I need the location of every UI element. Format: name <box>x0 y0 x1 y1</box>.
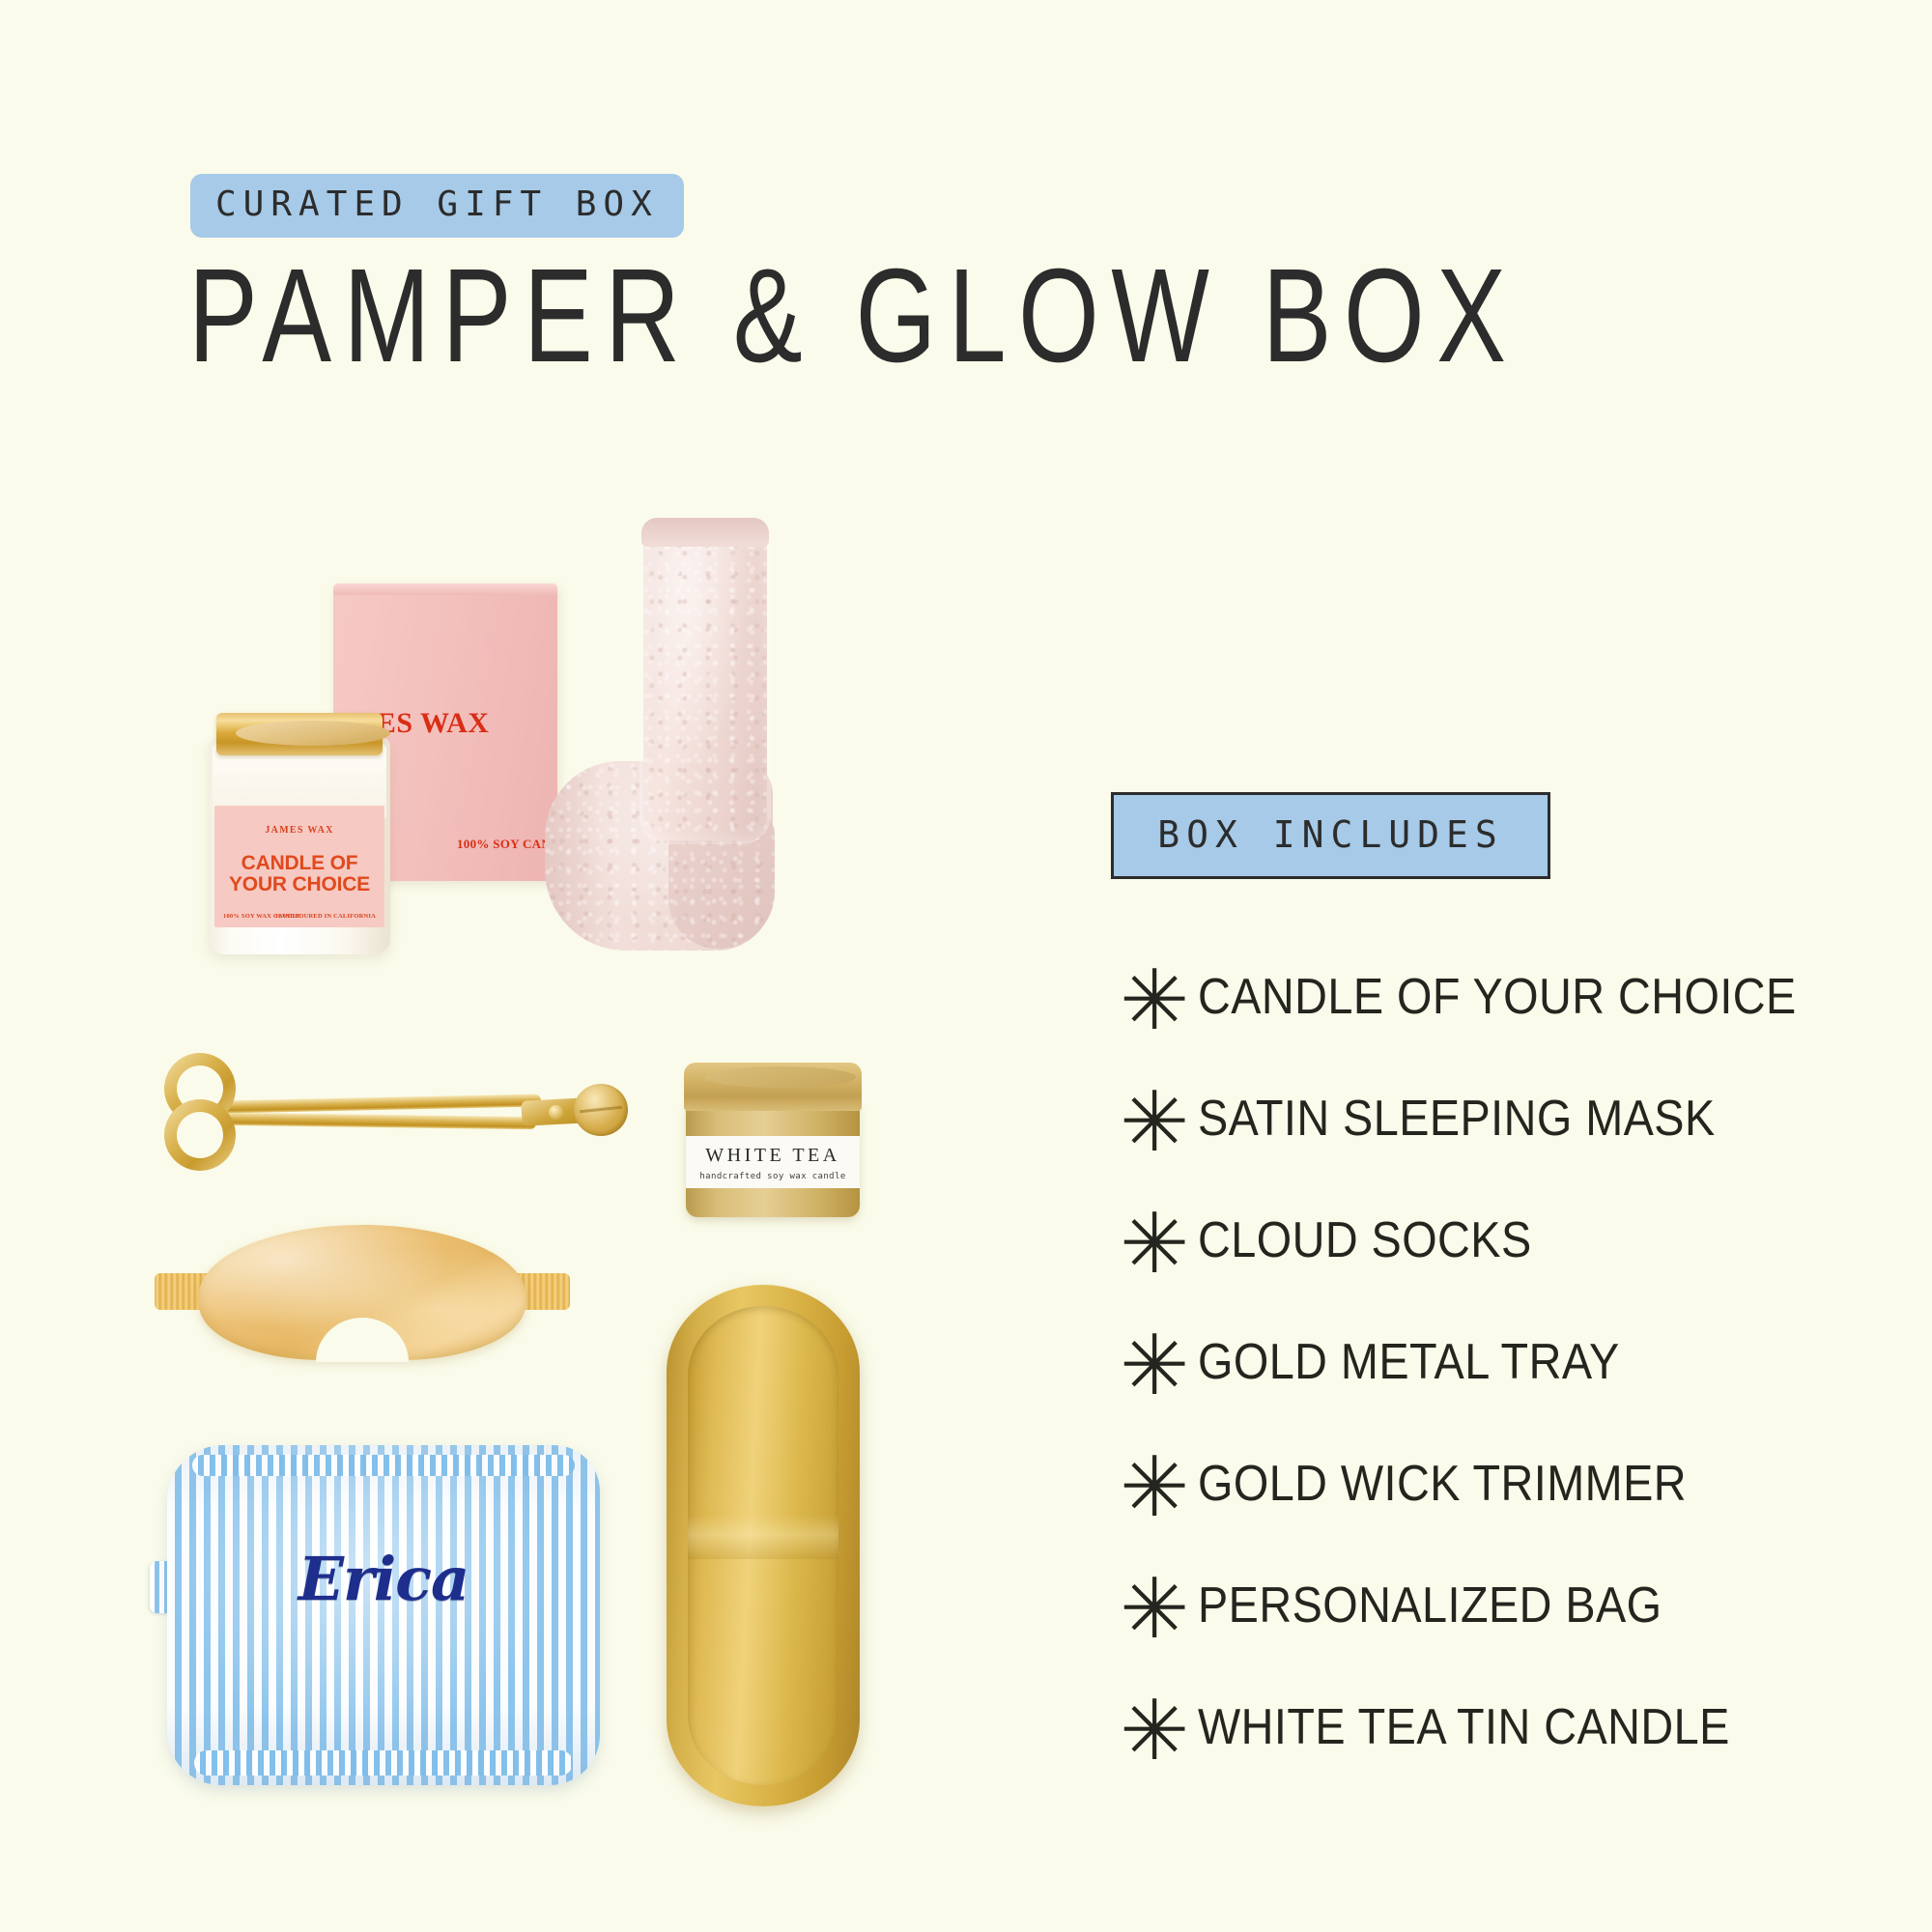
product-candle-jar-image: JAMES WAX CANDLE OFYOUR CHOICE 100% SOY … <box>203 692 396 954</box>
box-includes-header: BOX INCLUDES <box>1111 792 1550 879</box>
tin-title-text: WHITE TEA <box>686 1146 860 1165</box>
jar-lid-top <box>236 721 390 746</box>
mask-body <box>199 1225 526 1360</box>
sock-texture <box>643 522 767 840</box>
product-wick-trimmer-image <box>164 1051 628 1167</box>
tin-subtitle-text: handcrafted soy wax candle <box>686 1172 860 1181</box>
jar-headline-text: CANDLE OFYOUR CHOICE <box>214 853 384 895</box>
asterisk-bullet-icon: ✳ <box>1111 1215 1198 1273</box>
tray-sheen-highlight <box>688 1515 838 1559</box>
include-item-label: PERSONALIZED BAG <box>1198 1577 1662 1634</box>
product-personalized-bag-image: Erica <box>150 1439 613 1797</box>
product-tin-candle-image: WHITE TEA handcrafted soy wax candle <box>676 1063 869 1222</box>
sock-cuff <box>641 518 769 547</box>
box-includes-list: ✳CANDLE OF YOUR CHOICE✳SATIN SLEEPING MA… <box>1111 939 1845 1785</box>
asterisk-bullet-icon: ✳ <box>1111 1580 1198 1638</box>
trimmer-head <box>574 1084 628 1136</box>
product-cloud-socks-image <box>541 522 792 976</box>
trimmer-pivot-screw <box>549 1105 563 1120</box>
include-list-item: ✳CANDLE OF YOUR CHOICE <box>1111 939 1845 1055</box>
jar-footer-right-text: HANDPOURED IN CALIFORNIA <box>275 913 376 920</box>
tin-label: WHITE TEA handcrafted soy wax candle <box>686 1136 860 1188</box>
bag-body: Erica <box>167 1445 600 1785</box>
product-sleeping-mask-image <box>155 1219 570 1364</box>
include-item-label: SATIN SLEEPING MASK <box>1198 1090 1716 1148</box>
include-item-label: CANDLE OF YOUR CHOICE <box>1198 968 1797 1026</box>
trimmer-handle-ring-bottom <box>164 1099 236 1171</box>
box-includes-panel: BOX INCLUDES ✳CANDLE OF YOUR CHOICE✳SATI… <box>1111 792 1845 1785</box>
include-item-label: CLOUD SOCKS <box>1198 1211 1532 1269</box>
jar-label: JAMES WAX CANDLE OFYOUR CHOICE 100% SOY … <box>214 806 384 927</box>
product-gold-tray-image <box>667 1285 860 1806</box>
tin-lid <box>684 1063 862 1111</box>
asterisk-bullet-icon: ✳ <box>1111 1094 1198 1151</box>
include-list-item: ✳GOLD METAL TRAY <box>1111 1304 1845 1420</box>
include-item-label: GOLD WICK TRIMMER <box>1198 1455 1687 1513</box>
jar-gold-lid <box>216 713 383 755</box>
include-list-item: ✳WHITE TEA TIN CANDLE <box>1111 1669 1845 1785</box>
include-list-item: ✳GOLD WICK TRIMMER <box>1111 1426 1845 1542</box>
asterisk-bullet-icon: ✳ <box>1111 1702 1198 1760</box>
include-list-item: ✳PERSONALIZED BAG <box>1111 1548 1845 1663</box>
include-item-label: GOLD METAL TRAY <box>1198 1333 1620 1391</box>
include-item-label: WHITE TEA TIN CANDLE <box>1198 1698 1730 1756</box>
mask-nose-notch <box>316 1318 409 1362</box>
bag-piping-top <box>192 1455 575 1476</box>
bag-piping-bottom <box>194 1750 573 1776</box>
asterisk-bullet-icon: ✳ <box>1111 1337 1198 1395</box>
bag-shading <box>167 1445 600 1785</box>
trimmer-arm-lower <box>222 1113 536 1130</box>
bag-monogram-text: Erica <box>167 1544 600 1614</box>
jar-brand-text: JAMES WAX <box>214 825 384 836</box>
asterisk-bullet-icon: ✳ <box>1111 1459 1198 1517</box>
product-collage: MES WAX 100% SOY CANDLE JAMES WAX CANDLE… <box>0 0 1082 1932</box>
include-list-item: ✳SATIN SLEEPING MASK <box>1111 1061 1845 1177</box>
include-list-item: ✳CLOUD SOCKS <box>1111 1182 1845 1298</box>
trimmer-arm-upper <box>222 1094 541 1114</box>
tin-lid-top <box>705 1066 856 1088</box>
sock-leg <box>643 522 767 840</box>
asterisk-bullet-icon: ✳ <box>1111 972 1198 1030</box>
